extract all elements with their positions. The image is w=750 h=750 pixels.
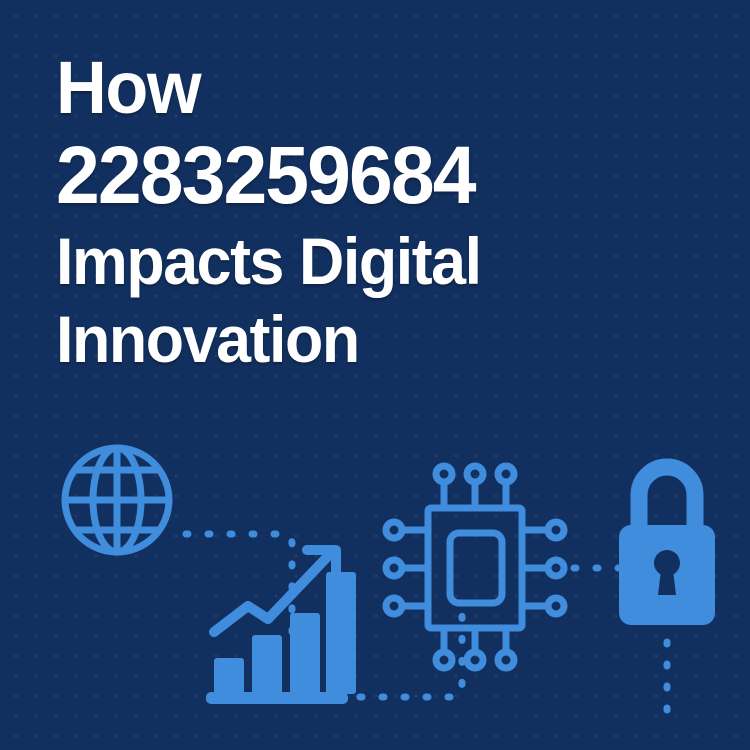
microchip-icon — [386, 466, 564, 668]
social-card: How 2283259684 Impacts Digital Innovatio… — [0, 0, 750, 750]
headline-line-1: How — [56, 46, 664, 130]
chart-bar-2 — [252, 635, 282, 694]
headline-block: How 2283259684 Impacts Digital Innovatio… — [56, 46, 696, 378]
headline-line-3: Impacts Digital — [56, 222, 664, 300]
headline-line-2-number: 2283259684 — [56, 130, 670, 222]
connector-globe-to-chart — [186, 534, 292, 648]
chart-bar-3 — [290, 613, 320, 694]
globe-icon — [65, 448, 169, 552]
icon-illustration — [0, 420, 750, 750]
padlock-icon — [619, 467, 715, 625]
growth-chart-icon — [206, 550, 356, 704]
chart-bar-1 — [214, 658, 244, 694]
headline-line-4: Innovation — [56, 300, 664, 378]
chart-bar-4 — [326, 572, 356, 694]
